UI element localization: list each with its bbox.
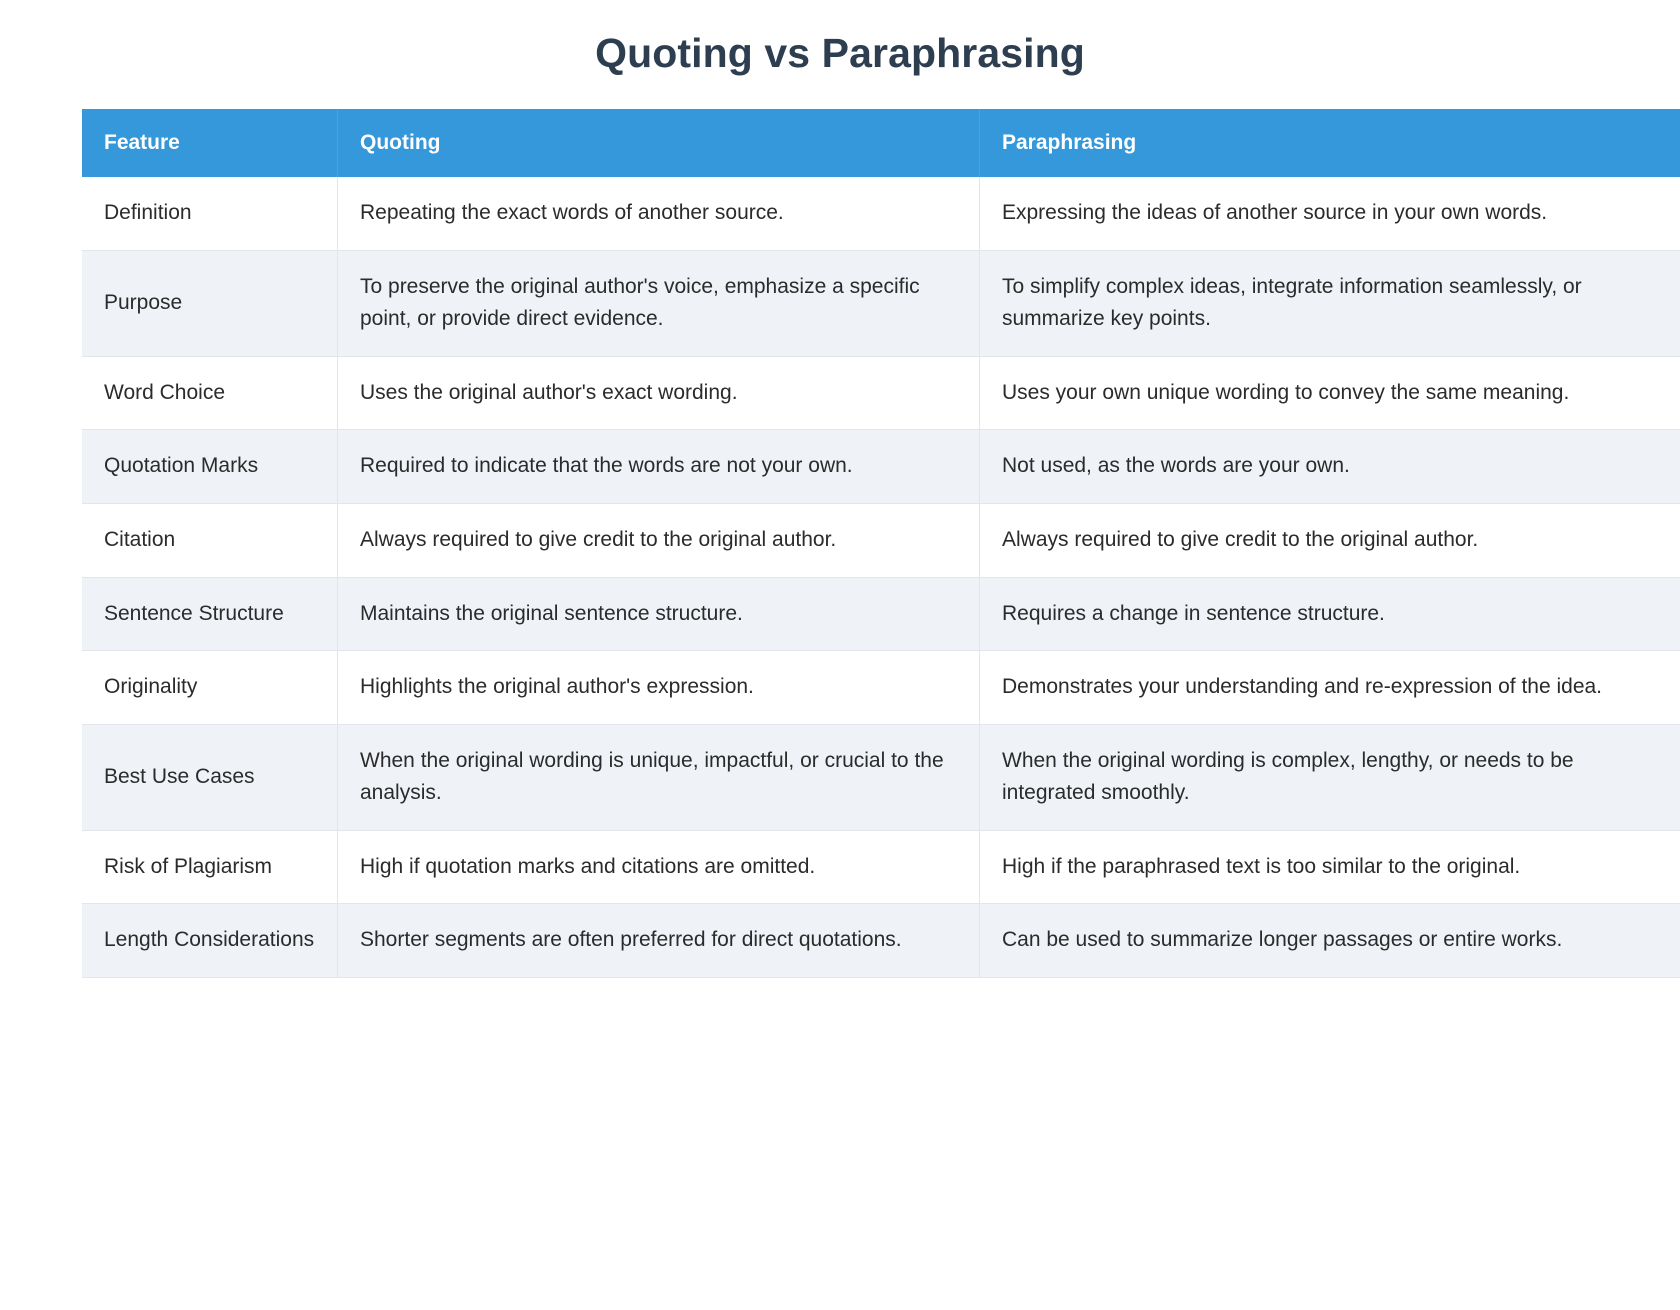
cell-paraphrasing: Not used, as the words are your own. <box>980 430 1680 504</box>
column-header-feature: Feature <box>82 109 338 177</box>
column-header-quoting: Quoting <box>338 109 980 177</box>
cell-feature: Risk of Plagiarism <box>82 831 338 905</box>
cell-quoting: Required to indicate that the words are … <box>338 430 980 504</box>
cell-paraphrasing: Can be used to summarize longer passages… <box>980 904 1680 978</box>
table-row: Risk of Plagiarism High if quotation mar… <box>82 831 1680 905</box>
table-row: Citation Always required to give credit … <box>82 504 1680 578</box>
page-title: Quoting vs Paraphrasing <box>0 0 1680 79</box>
cell-quoting: Maintains the original sentence structur… <box>338 578 980 652</box>
cell-paraphrasing: Uses your own unique wording to convey t… <box>980 357 1680 431</box>
cell-feature: Definition <box>82 177 338 251</box>
cell-feature: Quotation Marks <box>82 430 338 504</box>
cell-quoting: Repeating the exact words of another sou… <box>338 177 980 251</box>
table-header-row: Feature Quoting Paraphrasing <box>82 109 1680 177</box>
page-root: Quoting vs Paraphrasing Feature Quoting … <box>0 0 1680 1310</box>
table-row: Sentence Structure Maintains the origina… <box>82 578 1680 652</box>
column-header-paraphrasing: Paraphrasing <box>980 109 1680 177</box>
cell-quoting: To preserve the original author's voice,… <box>338 251 980 357</box>
comparison-table-container: Feature Quoting Paraphrasing Definition … <box>40 109 1640 978</box>
cell-feature: Citation <box>82 504 338 578</box>
cell-quoting: When the original wording is unique, imp… <box>338 725 980 831</box>
comparison-table: Feature Quoting Paraphrasing Definition … <box>82 109 1680 978</box>
table-row: Definition Repeating the exact words of … <box>82 177 1680 251</box>
table-body: Definition Repeating the exact words of … <box>82 177 1680 978</box>
table-row: Best Use Cases When the original wording… <box>82 725 1680 831</box>
cell-quoting: Always required to give credit to the or… <box>338 504 980 578</box>
cell-paraphrasing: Requires a change in sentence structure. <box>980 578 1680 652</box>
cell-feature: Purpose <box>82 251 338 357</box>
cell-quoting: Shorter segments are often preferred for… <box>338 904 980 978</box>
cell-feature: Word Choice <box>82 357 338 431</box>
cell-paraphrasing: When the original wording is complex, le… <box>980 725 1680 831</box>
cell-paraphrasing: High if the paraphrased text is too simi… <box>980 831 1680 905</box>
cell-quoting: Uses the original author's exact wording… <box>338 357 980 431</box>
cell-feature: Originality <box>82 651 338 725</box>
table-header: Feature Quoting Paraphrasing <box>82 109 1680 177</box>
table-row: Purpose To preserve the original author'… <box>82 251 1680 357</box>
table-row: Word Choice Uses the original author's e… <box>82 357 1680 431</box>
cell-paraphrasing: Always required to give credit to the or… <box>980 504 1680 578</box>
cell-quoting: High if quotation marks and citations ar… <box>338 831 980 905</box>
cell-paraphrasing: Demonstrates your understanding and re-e… <box>980 651 1680 725</box>
cell-feature: Sentence Structure <box>82 578 338 652</box>
cell-paraphrasing: Expressing the ideas of another source i… <box>980 177 1680 251</box>
cell-feature: Length Considerations <box>82 904 338 978</box>
cell-quoting: Highlights the original author's express… <box>338 651 980 725</box>
table-row: Quotation Marks Required to indicate tha… <box>82 430 1680 504</box>
table-row: Length Considerations Shorter segments a… <box>82 904 1680 978</box>
cell-feature: Best Use Cases <box>82 725 338 831</box>
cell-paraphrasing: To simplify complex ideas, integrate inf… <box>980 251 1680 357</box>
table-row: Originality Highlights the original auth… <box>82 651 1680 725</box>
